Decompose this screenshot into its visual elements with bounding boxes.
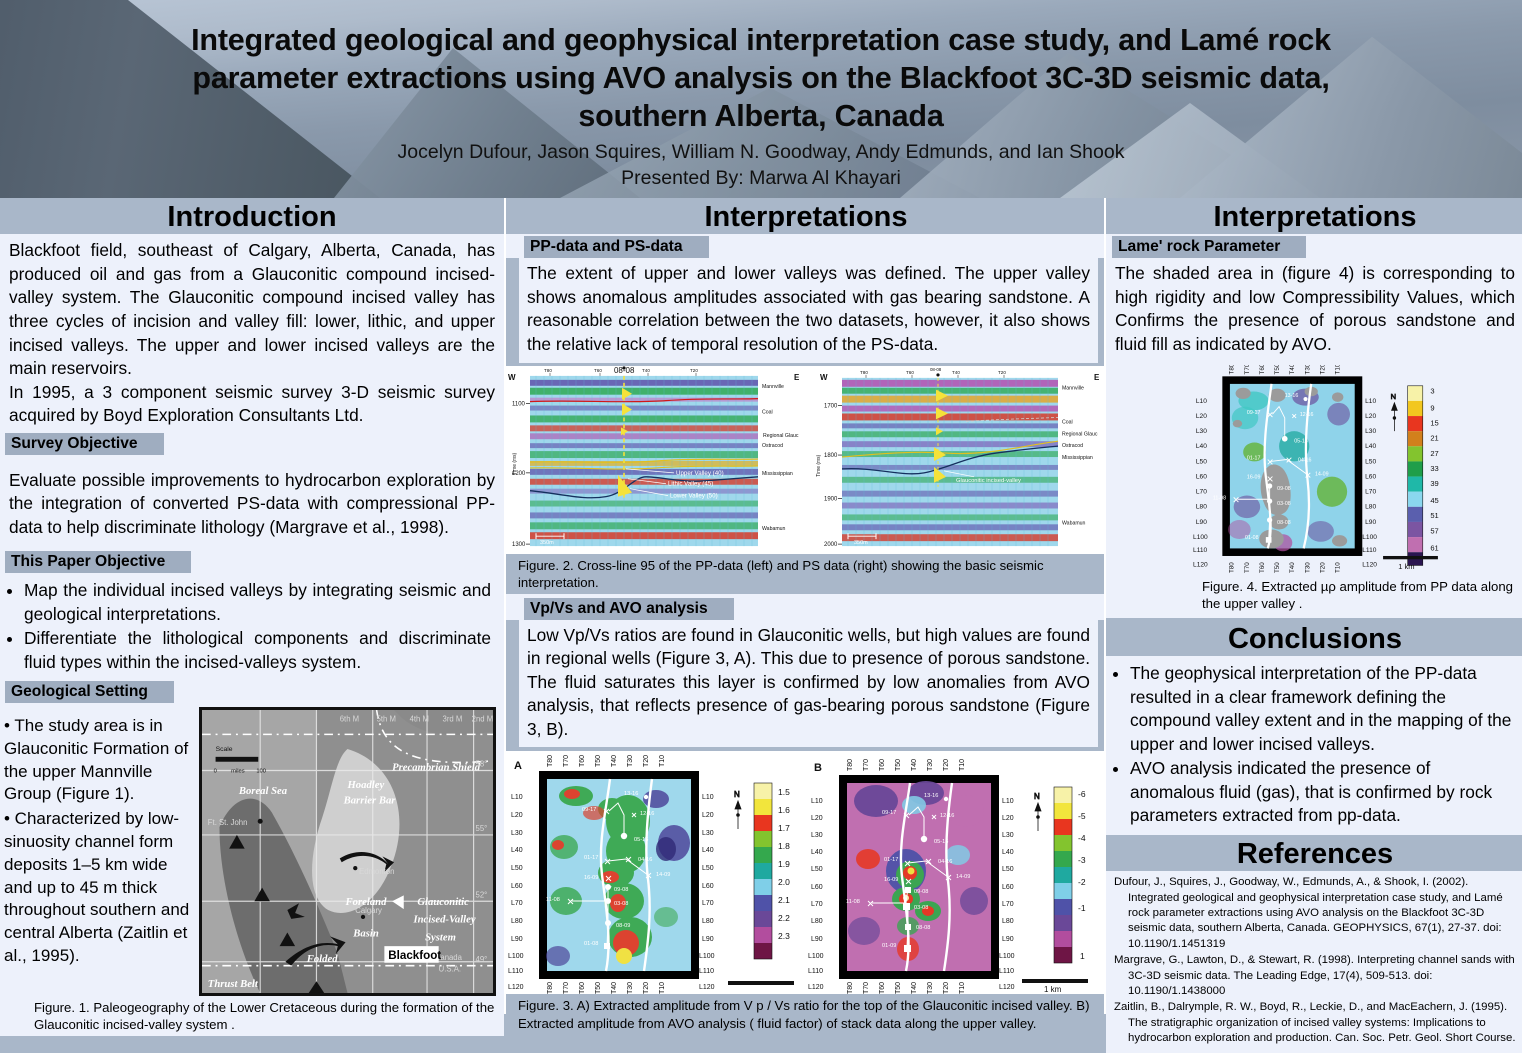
svg-text:L70: L70 [1365, 488, 1376, 495]
pp-ps-heading: PP-data and PS-data [524, 236, 709, 258]
svg-text:System: System [425, 931, 456, 943]
svg-text:-2: -2 [1078, 877, 1086, 887]
svg-text:01-08: 01-08 [584, 941, 598, 947]
svg-text:2.3: 2.3 [778, 931, 790, 941]
figure2-pp-panel: Upper Valley (40) Lithic Valley (45) Low… [506, 366, 806, 554]
svg-text:L40: L40 [1002, 849, 1014, 856]
svg-text:A: A [514, 760, 522, 772]
list-item: • Characterized by low-sinuosity channel… [4, 808, 194, 967]
svg-text:Incised-Valley: Incised-Valley [412, 914, 475, 926]
svg-text:L10: L10 [511, 794, 523, 801]
svg-text:Glauconitic: Glauconitic [417, 896, 469, 908]
svg-text:L110: L110 [699, 968, 714, 975]
svg-text:Precambrian Shield: Precambrian Shield [392, 762, 481, 774]
svg-text:09-08: 09-08 [1277, 485, 1291, 491]
pp-ps-panel: The extent of upper and lower valleys wa… [519, 258, 1098, 362]
svg-text:1 km: 1 km [1044, 985, 1062, 994]
svg-text:16-09: 16-09 [884, 877, 898, 883]
svg-text:L70: L70 [811, 901, 823, 908]
svg-text:1300: 1300 [512, 542, 526, 548]
svg-text:T40: T40 [911, 982, 918, 994]
svg-text:Basin: Basin [352, 928, 379, 940]
svg-text:100: 100 [256, 769, 266, 775]
svg-text:Coal: Coal [762, 409, 773, 415]
svg-text:L30: L30 [811, 832, 823, 839]
intro-paragraph-1: Blackfoot field, southeast of Calgary, A… [9, 239, 495, 380]
svg-text:T40: T40 [1289, 561, 1296, 572]
svg-text:08-08: 08-08 [1277, 519, 1291, 525]
svg-text:Blackfoot: Blackfoot [388, 949, 441, 962]
svg-text:12-16: 12-16 [1300, 412, 1314, 418]
svg-text:16-09: 16-09 [1247, 474, 1261, 480]
svg-text:T60: T60 [879, 982, 886, 994]
svg-text:T20: T20 [1319, 365, 1326, 374]
lame-rock-parameter-heading: Lame' rock Parameter [1112, 236, 1306, 258]
svg-text:N: N [734, 790, 740, 799]
svg-text:03-08: 03-08 [1277, 500, 1291, 506]
svg-text:09-17: 09-17 [582, 807, 596, 813]
svg-text:L20: L20 [1002, 815, 1014, 822]
svg-text:U.S.A.: U.S.A. [439, 965, 461, 974]
svg-text:L40: L40 [811, 849, 823, 856]
column-left: Introduction Blackfoot field, southeast … [0, 198, 504, 1014]
svg-text:L100: L100 [808, 953, 824, 960]
svg-text:05-16: 05-16 [934, 839, 948, 845]
svg-text:Folded: Folded [306, 953, 338, 965]
list-item: Map the individual incised valleys by in… [24, 579, 491, 626]
svg-text:T60: T60 [579, 982, 586, 994]
svg-text:49°: 49° [476, 955, 488, 964]
svg-text:L110: L110 [808, 968, 823, 975]
list-item: Differentiate the lithological component… [24, 627, 491, 674]
svg-text:Edmonton: Edmonton [359, 867, 394, 876]
reference-item: Margrave, G., Lawton, D., & Stewart, R. … [1114, 953, 1516, 999]
svg-text:L90: L90 [1002, 936, 1014, 943]
svg-text:L100: L100 [1193, 533, 1208, 540]
geological-setting-head-wrap: Geological Setting [0, 679, 504, 703]
svg-text:L20: L20 [811, 815, 823, 822]
geological-setting-text: • The study area is in Glauconitic Forma… [0, 703, 197, 996]
svg-text:T60: T60 [1259, 365, 1266, 374]
svg-text:T20: T20 [1319, 561, 1326, 572]
svg-text:T30: T30 [627, 755, 634, 767]
svg-text:L120: L120 [1193, 561, 1208, 568]
svg-text:55°: 55° [476, 824, 488, 833]
vpvs-heading: Vp/Vs and AVO analysis [524, 598, 734, 620]
svg-text:2nd M: 2nd M [472, 715, 493, 724]
svg-text:09-17: 09-17 [1247, 410, 1261, 416]
figure3-caption: Figure. 3. A) Extracted amplitude from V… [506, 994, 1106, 1034]
figure3-panel-b: B [806, 751, 1106, 994]
svg-text:09-08: 09-08 [914, 889, 928, 895]
svg-text:12-16: 12-16 [940, 813, 954, 819]
svg-text:1800: 1800 [824, 453, 838, 459]
svg-text:Scale: Scale [216, 746, 233, 753]
svg-text:1.5: 1.5 [778, 787, 790, 797]
figure4-figure: 13-16 09-17 12-16 05-16 01-17 04-16 14-0… [1106, 363, 1522, 578]
svg-text:08-09: 08-09 [616, 923, 630, 929]
svg-text:11-08: 11-08 [1213, 495, 1226, 501]
svg-text:W: W [508, 372, 516, 381]
svg-text:L30: L30 [511, 830, 523, 837]
column-middle: Interpretations PP-data and PS-data The … [504, 198, 1106, 1014]
svg-text:Ft. St. John: Ft. St. John [208, 818, 248, 827]
svg-text:L50: L50 [1002, 866, 1014, 873]
svg-text:21: 21 [1430, 433, 1438, 442]
vpvs-panel: Low Vp/Vs ratios are found in Glauconiti… [519, 620, 1098, 748]
svg-text:01-17: 01-17 [1247, 455, 1261, 461]
figure4-svg: 13-16 09-17 12-16 05-16 01-17 04-16 14-0… [1106, 365, 1522, 573]
svg-text:04-16: 04-16 [938, 859, 952, 865]
svg-text:L60: L60 [1196, 473, 1207, 480]
svg-text:L20: L20 [702, 812, 714, 819]
introduction-panel: Blackfoot field, southeast of Calgary, A… [0, 234, 504, 430]
svg-text:T70: T70 [1244, 365, 1251, 374]
svg-text:T50: T50 [1274, 561, 1281, 572]
section-title-references: References [1106, 835, 1522, 871]
svg-text:L100: L100 [999, 953, 1015, 960]
lame-panel: The shaded area in (figure 4) is corresp… [1106, 258, 1522, 362]
svg-text:L50: L50 [702, 865, 714, 872]
svg-text:T80: T80 [847, 759, 854, 771]
svg-text:L90: L90 [1365, 518, 1376, 525]
svg-text:1.9: 1.9 [778, 859, 790, 869]
svg-text:T40: T40 [642, 367, 650, 372]
svg-text:T70: T70 [563, 755, 570, 767]
svg-text:Thrust Belt: Thrust Belt [208, 978, 259, 990]
svg-text:Lower Valley (50): Lower Valley (50) [670, 492, 718, 499]
figure3a-svg: A [506, 751, 806, 994]
section-title-introduction: Introduction [0, 198, 504, 234]
svg-text:T60: T60 [879, 759, 886, 771]
intro-paragraph-2: In 1995, a 3 component seismic survey 3-… [9, 381, 495, 428]
svg-text:T70: T70 [863, 982, 870, 994]
svg-text:T10: T10 [959, 759, 966, 771]
svg-text:L100: L100 [508, 953, 524, 960]
survey-objective-heading: Survey Objective [5, 433, 164, 455]
svg-text:L10: L10 [702, 794, 714, 801]
svg-text:14-09: 14-09 [1315, 471, 1329, 477]
svg-text:1900: 1900 [824, 496, 838, 502]
svg-text:L60: L60 [702, 883, 714, 890]
svg-text:L120: L120 [508, 984, 524, 991]
svg-text:L80: L80 [1196, 503, 1207, 510]
svg-text:N: N [1391, 392, 1396, 401]
svg-text:E: E [794, 372, 799, 381]
svg-text:T70: T70 [863, 759, 870, 771]
svg-text:L10: L10 [1365, 397, 1376, 404]
figure2-ps-svg: Glauconitic incised-valley 350m W E 08-0… [806, 366, 1106, 554]
svg-text:T50: T50 [895, 759, 902, 771]
svg-text:2.0: 2.0 [778, 877, 790, 887]
svg-text:L110: L110 [1362, 547, 1377, 554]
svg-text:13-16: 13-16 [624, 791, 638, 797]
paper-objective-head-wrap: This Paper Objective [0, 549, 504, 573]
svg-text:T20: T20 [943, 982, 950, 994]
svg-text:3: 3 [1430, 386, 1434, 395]
svg-text:T40: T40 [1289, 365, 1296, 374]
svg-text:Wabamun: Wabamun [1062, 520, 1086, 526]
lame-head-wrap: Lame' rock Parameter [1106, 234, 1522, 258]
svg-text:52°: 52° [476, 891, 488, 900]
svg-text:T70: T70 [1244, 561, 1251, 572]
svg-text:T80: T80 [547, 755, 554, 767]
svg-text:01-17: 01-17 [584, 855, 598, 861]
figure1-caption: Figure. 1. Paleogeography of the Lower C… [0, 996, 504, 1036]
svg-text:Mississippian: Mississippian [762, 470, 793, 476]
svg-text:L80: L80 [702, 918, 714, 925]
paper-objective-panel: Map the individual incised valleys by in… [0, 573, 504, 679]
vpvs-head-wrap: Vp/Vs and AVO analysis [506, 594, 1106, 620]
svg-text:L10: L10 [811, 798, 823, 805]
svg-text:T40: T40 [911, 759, 918, 771]
svg-text:51: 51 [1430, 511, 1438, 520]
poster-title: Integrated geological and geophysical in… [0, 0, 1522, 135]
references-panel: Dufour, J., Squires, J., Goodway, W., Ed… [1106, 871, 1522, 1052]
svg-text:T60: T60 [1259, 561, 1266, 572]
svg-text:T80: T80 [544, 367, 552, 372]
svg-text:Coal: Coal [1062, 419, 1073, 425]
poster-authors: Jocelyn Dufour, Jason Squires, William N… [0, 141, 1522, 164]
svg-text:L110: L110 [1193, 547, 1208, 554]
svg-text:2000: 2000 [824, 542, 838, 548]
svg-text:Upper Valley (40): Upper Valley (40) [676, 469, 724, 476]
svg-text:L70: L70 [1196, 488, 1207, 495]
svg-text:T80: T80 [547, 982, 554, 994]
svg-text:T80: T80 [1229, 561, 1236, 572]
svg-text:T10: T10 [659, 755, 666, 767]
svg-text:09-17: 09-17 [882, 810, 896, 816]
svg-text:L70: L70 [702, 900, 714, 907]
poster-header: Integrated geological and geophysical in… [0, 0, 1522, 198]
survey-objective-head-wrap: Survey Objective [0, 431, 504, 455]
svg-text:T50: T50 [595, 755, 602, 767]
svg-text:Ostracod: Ostracod [762, 443, 783, 449]
svg-text:miles: miles [231, 769, 245, 775]
svg-text:13-16: 13-16 [924, 793, 938, 799]
svg-text:Hoadley: Hoadley [347, 779, 385, 791]
svg-text:T60: T60 [906, 369, 914, 374]
svg-text:1 km: 1 km [1398, 562, 1414, 571]
svg-text:Calgary: Calgary [355, 906, 382, 915]
svg-text:12-16: 12-16 [640, 811, 654, 817]
svg-text:Lithic Valley (45): Lithic Valley (45) [668, 480, 713, 487]
svg-text:L10: L10 [1002, 798, 1014, 805]
svg-text:08-08: 08-08 [930, 366, 942, 371]
figure2-pp-svg: Upper Valley (40) Lithic Valley (45) Low… [506, 366, 806, 554]
svg-text:1.8: 1.8 [778, 841, 790, 851]
svg-text:05-16: 05-16 [1294, 438, 1308, 444]
poster-body: Introduction Blackfoot field, southeast … [0, 198, 1522, 1014]
section-title-conclusions: Conclusions [1106, 618, 1522, 656]
svg-text:1100: 1100 [512, 401, 526, 407]
svg-text:Mannville: Mannville [1062, 385, 1084, 391]
svg-text:T20: T20 [643, 982, 650, 994]
figure3-figures: A [506, 751, 1106, 994]
svg-text:1.7: 1.7 [778, 823, 790, 833]
svg-text:L90: L90 [511, 936, 523, 943]
svg-text:Ostracod: Ostracod [1062, 443, 1083, 449]
svg-text:Regional Glauc: Regional Glauc [1062, 431, 1098, 437]
survey-objective-panel: Evaluate possible improvements to hydroc… [0, 455, 504, 550]
svg-text:T40: T40 [952, 369, 960, 374]
figure2-ps-panel: Glauconitic incised-valley 350m W E 08-0… [806, 366, 1106, 554]
figure3-panel-a: A [506, 751, 806, 994]
svg-text:09-08: 09-08 [614, 887, 628, 893]
svg-text:L20: L20 [1196, 412, 1207, 419]
svg-text:L120: L120 [808, 984, 824, 991]
conclusions-panel: The geophysical interpretation of the PP… [1106, 656, 1522, 835]
svg-text:L50: L50 [511, 865, 523, 872]
svg-text:L30: L30 [1196, 428, 1207, 435]
svg-text:L60: L60 [511, 883, 523, 890]
svg-text:1700: 1700 [824, 403, 838, 409]
paper-objective-list: Map the individual incised valleys by in… [4, 579, 495, 674]
svg-text:T10: T10 [1335, 561, 1342, 572]
svg-text:6th M: 6th M [340, 715, 359, 724]
svg-text:T40: T40 [611, 982, 618, 994]
svg-text:L50: L50 [1365, 458, 1376, 465]
geological-setting-panel: • The study area is in Glauconitic Forma… [0, 703, 504, 996]
figure4-caption: Figure. 4. Extracted µρ amplitude from P… [1106, 578, 1522, 618]
svg-text:2.2: 2.2 [778, 913, 790, 923]
svg-text:L10: L10 [1196, 397, 1207, 404]
svg-text:L120: L120 [699, 984, 715, 991]
svg-text:-6: -6 [1078, 789, 1086, 799]
svg-text:39: 39 [1430, 479, 1438, 488]
svg-text:16-09: 16-09 [584, 875, 598, 881]
list-item: The geophysical interpretation of the PP… [1130, 662, 1512, 756]
svg-text:L50: L50 [1196, 458, 1207, 465]
svg-text:L40: L40 [1365, 443, 1376, 450]
svg-text:14-09: 14-09 [956, 874, 970, 880]
svg-text:T10: T10 [959, 982, 966, 994]
conclusions-list: The geophysical interpretation of the PP… [1110, 662, 1516, 828]
svg-text:1: 1 [1080, 951, 1085, 961]
svg-text:27: 27 [1430, 448, 1438, 457]
svg-text:L40: L40 [511, 847, 523, 854]
svg-text:4th M: 4th M [410, 715, 429, 724]
svg-text:9: 9 [1430, 403, 1434, 412]
svg-text:-5: -5 [1078, 811, 1086, 821]
svg-text:T50: T50 [895, 982, 902, 994]
svg-text:T30: T30 [1304, 365, 1311, 374]
svg-text:L40: L40 [1196, 443, 1207, 450]
svg-text:01-09: 01-09 [882, 943, 896, 949]
svg-text:N: N [1034, 792, 1040, 801]
svg-text:T80: T80 [1229, 365, 1236, 374]
svg-text:L80: L80 [511, 918, 523, 925]
svg-text:L20: L20 [511, 812, 523, 819]
svg-text:L120: L120 [999, 984, 1015, 991]
svg-text:01-17: 01-17 [884, 857, 898, 863]
svg-text:L90: L90 [1196, 518, 1207, 525]
svg-text:L70: L70 [1002, 901, 1014, 908]
svg-text:L90: L90 [702, 936, 714, 943]
svg-text:T80: T80 [847, 982, 854, 994]
svg-text:L20: L20 [1365, 412, 1376, 419]
svg-text:Boreal Sea: Boreal Sea [238, 785, 288, 797]
svg-text:L80: L80 [1365, 503, 1376, 510]
svg-text:45: 45 [1430, 496, 1438, 505]
svg-text:04-16: 04-16 [1298, 457, 1312, 463]
svg-text:L80: L80 [1002, 918, 1014, 925]
svg-text:-3: -3 [1078, 855, 1086, 865]
svg-text:T20: T20 [943, 759, 950, 771]
reference-item: Zaitlin, B., Dalrymple, R. W., Boyd, R.,… [1114, 1000, 1516, 1046]
svg-text:T70: T70 [563, 982, 570, 994]
svg-text:T30: T30 [927, 759, 934, 771]
svg-text:Time (ms): Time (ms) [816, 454, 822, 476]
svg-text:T50: T50 [1274, 365, 1281, 374]
svg-text:W: W [820, 372, 828, 381]
svg-text:L30: L30 [1002, 832, 1014, 839]
svg-text:T30: T30 [1304, 561, 1311, 572]
svg-text:T40: T40 [611, 755, 618, 767]
svg-text:Glauconitic incised-valley: Glauconitic incised-valley [956, 477, 1021, 483]
svg-text:2.1: 2.1 [778, 895, 790, 905]
svg-text:Wabamun: Wabamun [762, 526, 786, 532]
geological-setting-heading: Geological Setting [5, 681, 174, 703]
svg-text:T10: T10 [659, 982, 666, 994]
svg-text:-4: -4 [1078, 833, 1086, 843]
svg-text:13-16: 13-16 [1285, 393, 1299, 399]
list-item: • The study area is in Glauconitic Forma… [4, 715, 194, 806]
section-title-interpretations-mid: Interpretations [506, 198, 1106, 234]
svg-text:L100: L100 [1362, 533, 1377, 540]
poster-presenter: Presented By: Marwa Al Khayari [0, 167, 1522, 190]
svg-text:T80: T80 [860, 369, 868, 374]
svg-text:03-08: 03-08 [614, 901, 628, 907]
svg-text:L100: L100 [699, 953, 715, 960]
svg-text:L50: L50 [811, 866, 823, 873]
svg-text:08-08: 08-08 [916, 925, 930, 931]
svg-text:L90: L90 [811, 936, 823, 943]
svg-text:15: 15 [1430, 418, 1438, 427]
svg-text:T20: T20 [643, 755, 650, 767]
svg-text:01-08: 01-08 [1245, 534, 1259, 540]
svg-text:Regional Glauc: Regional Glauc [763, 433, 799, 439]
svg-text:03-08: 03-08 [914, 905, 928, 911]
svg-text:11-08: 11-08 [846, 899, 860, 905]
figure3b-svg: B [806, 751, 1106, 994]
svg-text:L80: L80 [811, 918, 823, 925]
svg-text:33: 33 [1430, 463, 1438, 472]
svg-text:350m: 350m [854, 540, 868, 546]
svg-text:L30: L30 [1365, 428, 1376, 435]
svg-text:L60: L60 [811, 884, 823, 891]
svg-text:E: E [1094, 372, 1099, 381]
svg-text:L40: L40 [702, 847, 714, 854]
svg-text:T60: T60 [594, 367, 602, 372]
svg-text:L120: L120 [1362, 561, 1377, 568]
svg-text:Barrier Bar: Barrier Bar [343, 795, 397, 807]
svg-text:5th M: 5th M [377, 715, 396, 724]
svg-text:61: 61 [1430, 543, 1438, 552]
svg-text:Time (ms): Time (ms) [512, 452, 518, 474]
section-title-interpretations-right: Interpretations [1106, 198, 1522, 234]
svg-text:05-16: 05-16 [634, 837, 648, 843]
reference-item: Dufour, J., Squires, J., Goodway, W., Ed… [1114, 875, 1516, 952]
svg-text:L110: L110 [999, 968, 1014, 975]
figure2-caption: Figure. 2. Cross-line 95 of the PP-data … [506, 554, 1106, 594]
svg-text:L60: L60 [1002, 884, 1014, 891]
svg-text:T30: T30 [927, 982, 934, 994]
svg-text:Mississippian: Mississippian [1062, 455, 1093, 461]
svg-text:L70: L70 [511, 900, 523, 907]
svg-text:3rd M: 3rd M [443, 715, 463, 724]
column-right: Interpretations Lame' rock Parameter The… [1104, 198, 1522, 1014]
